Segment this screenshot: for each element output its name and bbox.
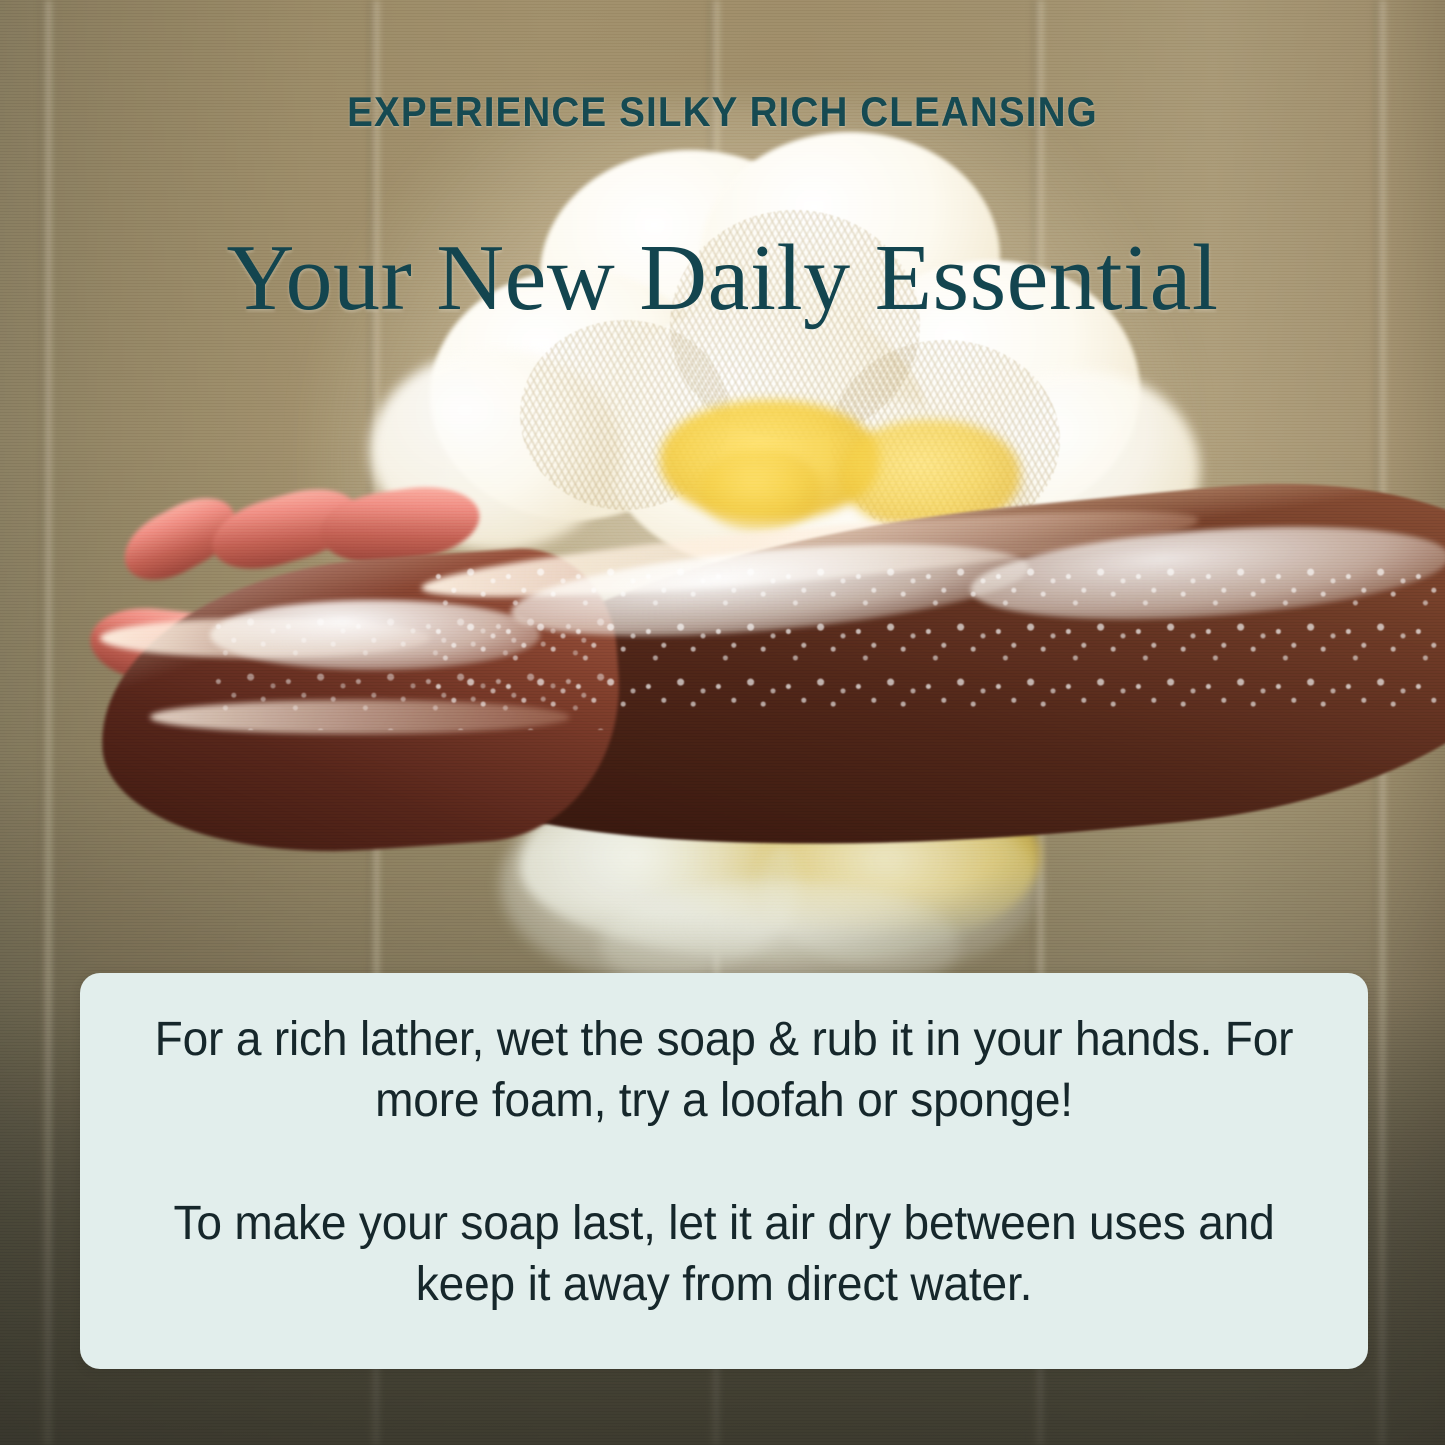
page-title: Your New Daily Essential [0, 231, 1445, 327]
usage-tips-card: For a rich lather, wet the soap & rub it… [80, 973, 1368, 1369]
promo-canvas: EXPERIENCE SILKY RICH CLEANSING Your New… [0, 0, 1445, 1445]
hero-eyebrow: EXPERIENCE SILKY RICH CLEANSING [58, 88, 1387, 136]
tip-paragraph-care: To make your soap last, let it air dry b… [150, 1194, 1298, 1316]
lathered-forearm [90, 490, 1445, 910]
tip-paragraph-lather: For a rich lather, wet the soap & rub it… [150, 1010, 1298, 1132]
